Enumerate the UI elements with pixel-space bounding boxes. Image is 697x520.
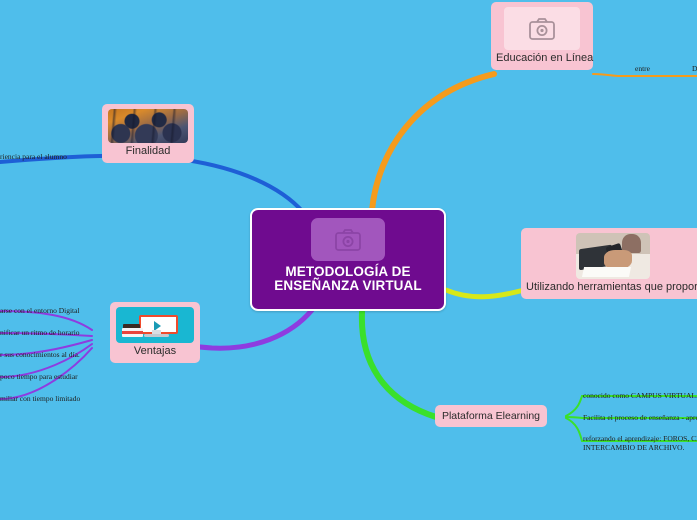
topic-node-utilizando-herramientas[interactable]: Utilizando herramientas que proporc <box>521 228 697 299</box>
ventajas-thumbnail[interactable] <box>116 307 194 343</box>
subbranches-educacion <box>593 74 697 76</box>
camera-icon <box>335 229 361 251</box>
mindmap-canvas[interactable]: METODOLOGÍA DE ENSEÑANZA VIRTUAL Educaci… <box>0 0 697 520</box>
branch-curve-herramientas <box>446 290 524 297</box>
leaf-educacion-2: D <box>692 64 697 73</box>
graduation-photo <box>108 109 188 143</box>
finalidad-thumbnail[interactable] <box>108 109 188 143</box>
leaf-ventajas-1: arse con el entorno Digital <box>0 306 80 315</box>
root-title-line-2: ENSEÑANZA VIRTUAL <box>258 279 438 293</box>
camera-icon <box>529 18 555 40</box>
root-title-line-1: METODOLOGÍA DE <box>258 265 438 279</box>
branch-curve-plataforma <box>362 312 436 417</box>
root-node[interactable]: METODOLOGÍA DE ENSEÑANZA VIRTUAL <box>250 208 446 311</box>
leaf-educacion-1: entre <box>635 64 650 73</box>
topic-node-ventajas[interactable]: Ventajas <box>110 302 200 363</box>
leaf-plataforma-4: INTERCAMBIO DE ARCHIVO. <box>583 443 684 452</box>
leaf-ventajas-2: nificar un ritmo de horario <box>0 328 80 337</box>
leaf-plataforma-1: conocido como CAMPUS VIRTUAL. <box>583 391 697 400</box>
leaf-ventajas-5: miliar con tiempo limitado <box>0 394 80 403</box>
root-thumbnail[interactable] <box>311 218 385 261</box>
topic-node-plataforma-elearning[interactable]: Plataforma Elearning <box>435 405 547 427</box>
finalidad-label: Finalidad <box>107 145 189 158</box>
plataforma-label: Plataforma Elearning <box>442 410 540 423</box>
leaf-plataforma-2: Facilita el proceso de enseñanza - apren… <box>583 413 697 422</box>
leaf-plataforma-3: reforzando el aprendizaje: FOROS, CHAT <box>583 434 697 443</box>
topic-node-educacion-en-linea[interactable]: Educación en Línea <box>491 2 593 70</box>
educacion-label: Educación en Línea <box>496 52 588 65</box>
herramientas-thumbnail[interactable] <box>576 233 650 279</box>
desk-laptop-photo <box>576 233 650 279</box>
topic-node-finalidad[interactable]: Finalidad <box>102 104 194 163</box>
branch-curve-finalidad <box>0 156 303 212</box>
leaf-finalidad-1: riencia para el alumno <box>0 152 67 161</box>
branch-curve-educacion <box>372 74 494 210</box>
elearning-photo <box>116 307 194 343</box>
root-title: METODOLOGÍA DE ENSEÑANZA VIRTUAL <box>258 265 438 293</box>
leaf-ventajas-4: poco tiempo para estudiar <box>0 372 78 381</box>
educacion-thumbnail[interactable] <box>504 7 580 50</box>
ventajas-label: Ventajas <box>115 345 195 358</box>
leaf-ventajas-3: r sus conocimientos al día. <box>0 350 80 359</box>
herramientas-label: Utilizando herramientas que proporc <box>526 281 697 294</box>
